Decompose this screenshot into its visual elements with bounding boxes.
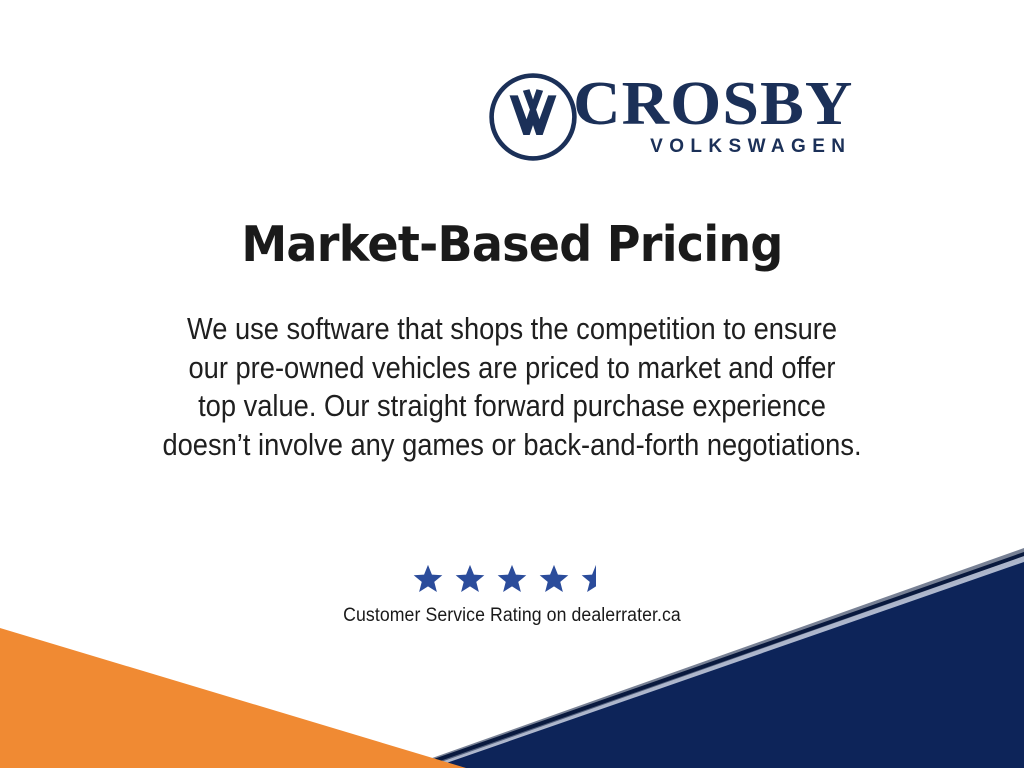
vw-roundel-icon xyxy=(487,71,579,163)
star-icon-filled xyxy=(539,564,569,593)
star-rating xyxy=(407,564,617,593)
slide-canvas: CROSBY VOLKSWAGEN Market-Based Pricing W… xyxy=(0,0,1024,768)
volkswagen-wordmark: VOLKSWAGEN xyxy=(650,136,851,158)
star-icon-filled xyxy=(413,564,443,593)
rating-block: Customer Service Rating on dealerrater.c… xyxy=(0,564,1024,627)
body-line: We use software that shops the competiti… xyxy=(134,310,891,349)
crosby-text-block: CROSBY VOLKSWAGEN xyxy=(589,76,853,158)
page-title: Market-Based Pricing xyxy=(31,216,994,273)
body-line: our pre-owned vehicles are priced to mar… xyxy=(134,349,891,388)
orange-corner-shape xyxy=(0,628,466,768)
brand-logo-lockup: CROSBY VOLKSWAGEN xyxy=(487,68,919,166)
star-icon-half xyxy=(581,564,611,593)
dealer-name-wordmark: CROSBY xyxy=(573,76,853,133)
star-icon-filled xyxy=(455,564,485,593)
body-paragraph: We use software that shops the competiti… xyxy=(134,310,891,464)
body-line: top value. Our straight forward purchase… xyxy=(134,387,891,426)
rating-caption: Customer Service Rating on dealerrater.c… xyxy=(36,605,988,627)
star-icon-filled xyxy=(497,564,527,593)
body-line: doesn’t involve any games or back-and-fo… xyxy=(134,426,891,465)
